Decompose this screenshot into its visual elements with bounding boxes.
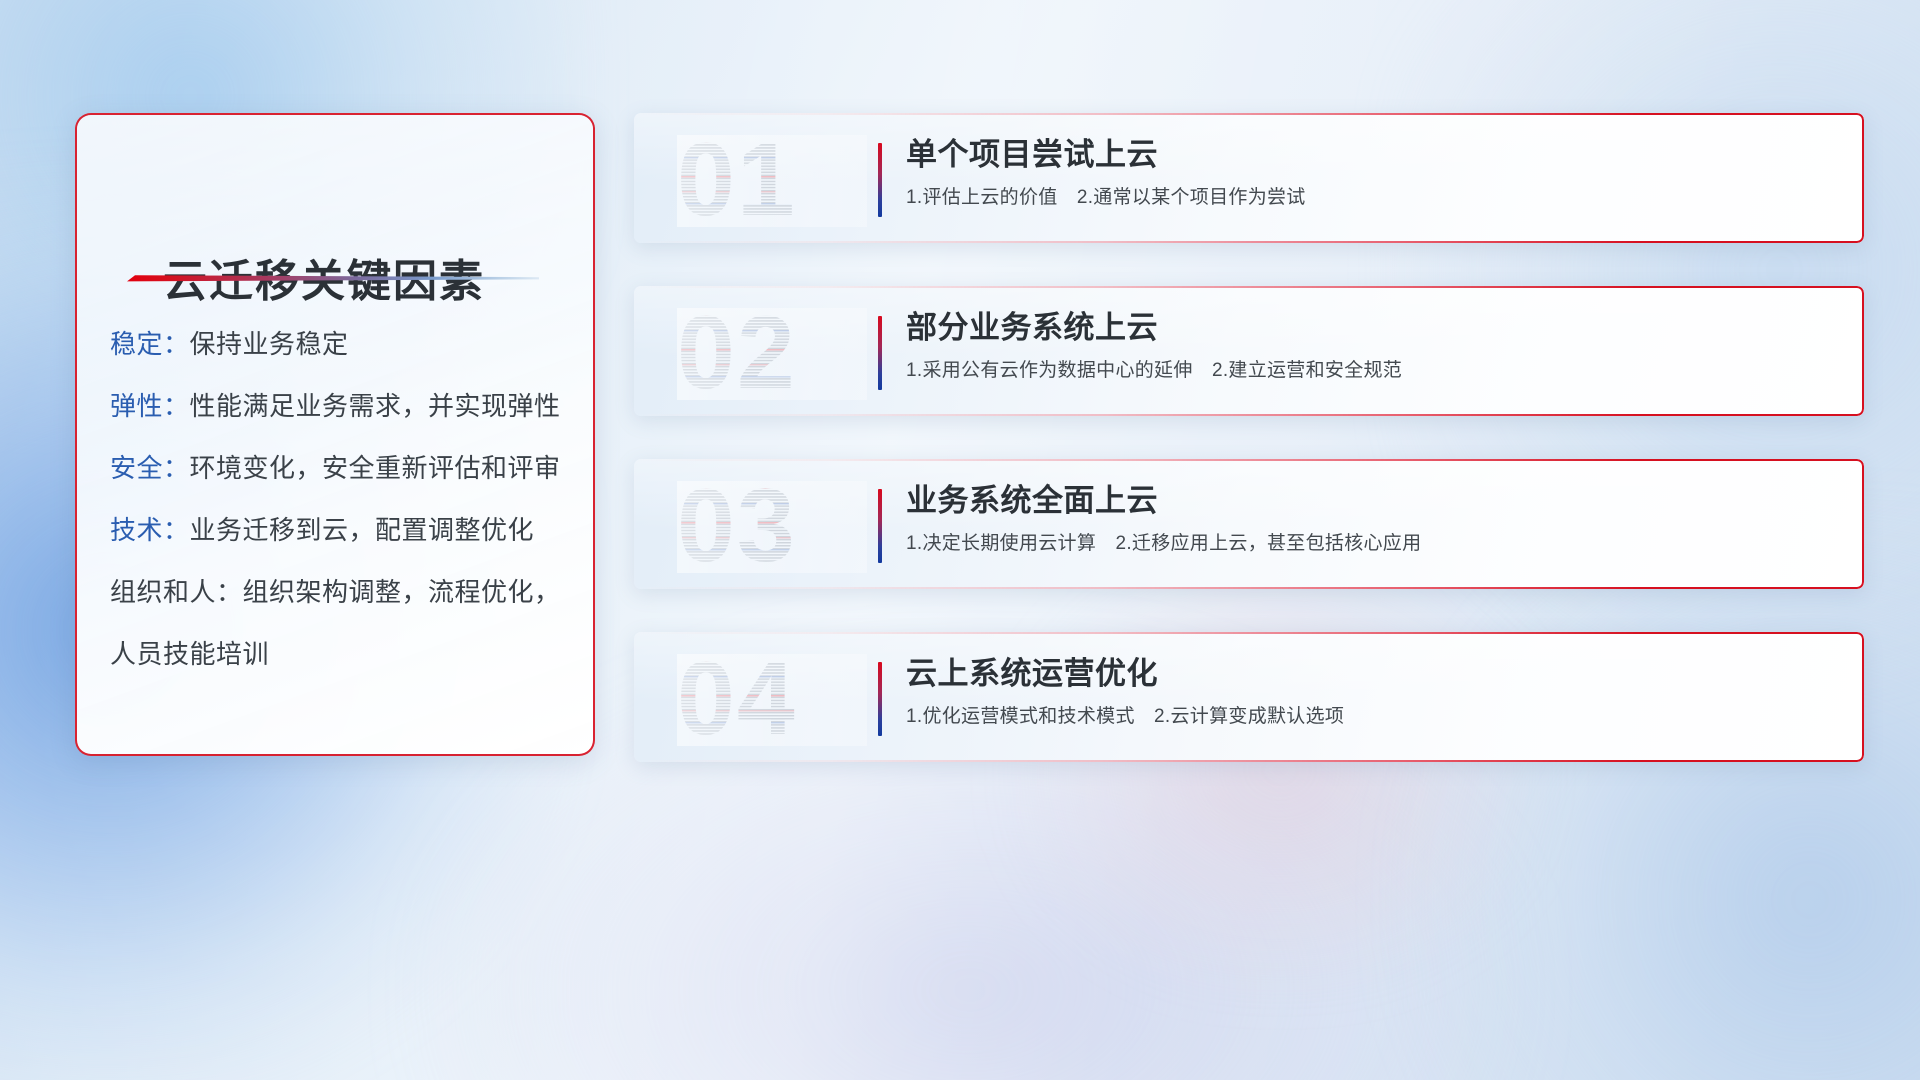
accent-bar-icon — [878, 662, 882, 736]
key-factor-label: 稳定： — [110, 329, 190, 359]
key-factors-list: 稳定：保持业务稳定弹性：性能满足业务需求，并实现弹性安全：环境变化，安全重新评估… — [110, 313, 569, 685]
key-factor-label: 安全： — [110, 453, 190, 483]
key-factor-item: 人员技能培训 — [110, 623, 569, 685]
stage-number: 04 — [677, 654, 867, 746]
key-factor-text: 环境变化，安全重新评估和评审 — [190, 453, 561, 483]
stage-number: 02 — [677, 308, 867, 400]
card-description: 1.评估上云的价值 2.通常以某个项目作为尝试 — [906, 181, 1840, 215]
card-title: 部分业务系统上云 — [906, 306, 1840, 350]
key-factor-item: 稳定：保持业务稳定 — [110, 313, 569, 375]
card-body: 业务系统全面上云1.决定长期使用云计算 2.迁移应用上云，甚至包括核心应用 — [906, 479, 1840, 561]
title-divider-rule — [127, 269, 539, 285]
accent-bar-icon — [878, 143, 882, 217]
cloud-stage-card[interactable]: 02部分业务系统上云1.采用公有云作为数据中心的延伸 2.建立运营和安全规范 — [634, 286, 1864, 416]
cloud-stage-card[interactable]: 01单个项目尝试上云1.评估上云的价值 2.通常以某个项目作为尝试 — [634, 113, 1864, 243]
key-factor-text: 保持业务稳定 — [190, 329, 349, 359]
key-factor-text: 业务迁移到云，配置调整优化 — [190, 515, 535, 545]
accent-bar-icon — [878, 489, 882, 563]
card-body: 单个项目尝试上云1.评估上云的价值 2.通常以某个项目作为尝试 — [906, 133, 1840, 215]
key-factors-panel: 云迁移关键因素 稳定：保持业务稳定弹性：性能满足业务需求，并实现弹性安全：环境变… — [75, 113, 595, 756]
card-description: 1.决定长期使用云计算 2.迁移应用上云，甚至包括核心应用 — [906, 527, 1840, 561]
key-factor-item: 安全：环境变化，安全重新评估和评审 — [110, 437, 569, 499]
key-factor-item: 技术：业务迁移到云，配置调整优化 — [110, 499, 569, 561]
card-title: 业务系统全面上云 — [906, 479, 1840, 523]
key-factor-text: 人员技能培训 — [110, 639, 269, 669]
card-description: 1.采用公有云作为数据中心的延伸 2.建立运营和安全规范 — [906, 354, 1840, 388]
key-factor-text: 性能满足业务需求，并实现弹性 — [190, 391, 561, 421]
card-body: 部分业务系统上云1.采用公有云作为数据中心的延伸 2.建立运营和安全规范 — [906, 306, 1840, 388]
accent-bar-icon — [878, 316, 882, 390]
key-factor-label: 组织和人： — [110, 577, 243, 607]
card-title: 单个项目尝试上云 — [906, 133, 1840, 177]
card-body: 云上系统运营优化1.优化运营模式和技术模式 2.云计算变成默认选项 — [906, 652, 1840, 734]
key-factor-item: 组织和人：组织架构调整，流程优化， — [110, 561, 569, 623]
cloud-stage-card[interactable]: 04云上系统运营优化1.优化运营模式和技术模式 2.云计算变成默认选项 — [634, 632, 1864, 762]
cloud-stage-card[interactable]: 03业务系统全面上云1.决定长期使用云计算 2.迁移应用上云，甚至包括核心应用 — [634, 459, 1864, 589]
card-title: 云上系统运营优化 — [906, 652, 1840, 696]
card-description: 1.优化运营模式和技术模式 2.云计算变成默认选项 — [906, 700, 1840, 734]
key-factor-label: 弹性： — [110, 391, 190, 421]
stage-number: 03 — [677, 481, 867, 573]
key-factor-text: 组织架构调整，流程优化， — [243, 577, 561, 607]
key-factor-label: 技术： — [110, 515, 190, 545]
cloud-stage-card-list: 01单个项目尝试上云1.评估上云的价值 2.通常以某个项目作为尝试02部分业务系… — [634, 113, 1864, 805]
stage-number: 01 — [677, 135, 867, 227]
key-factor-item: 弹性：性能满足业务需求，并实现弹性 — [110, 375, 569, 437]
